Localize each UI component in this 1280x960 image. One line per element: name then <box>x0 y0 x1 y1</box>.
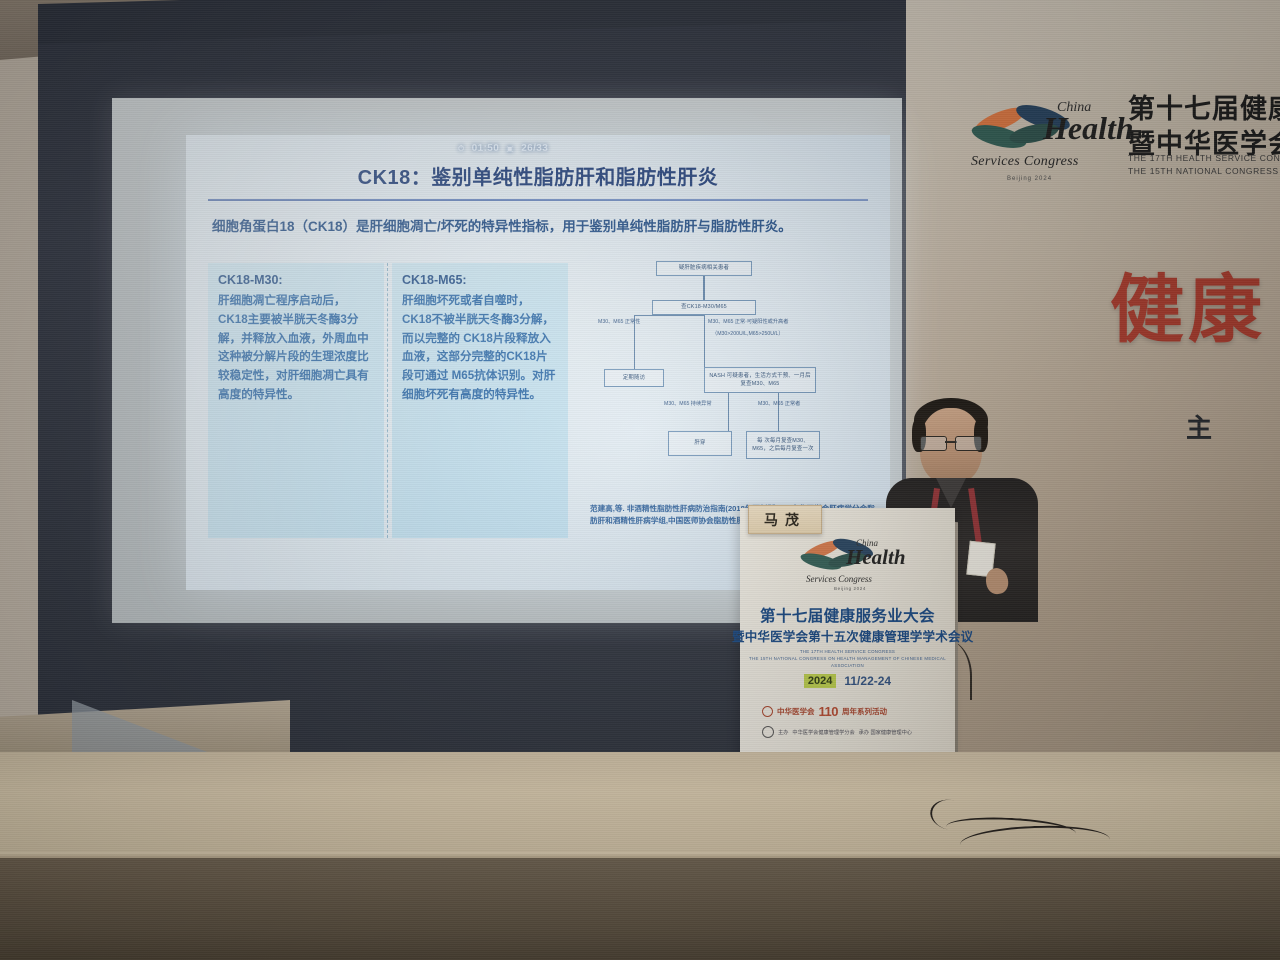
backdrop-en-line-2: THE 15TH NATIONAL CONGRESS ON HEA <box>1128 165 1280 178</box>
flow-edge-label-4: M30、M65 持续异常 <box>664 401 712 409</box>
backdrop-large-red-text: 健康 <box>1110 250 1266 357</box>
flow-node-6: 每 次每月复查M30、M65，之后每月复查一次 <box>746 431 820 459</box>
slide-counter: 26/33 <box>521 143 548 154</box>
backdrop-english-title: THE 17TH HEALTH SERVICE CONGRESS THE 15T… <box>1128 152 1280 178</box>
logo-city-year: Beijing 2024 <box>1007 176 1052 182</box>
flow-node-3: 定期随访 <box>604 369 664 387</box>
flow-edge <box>703 276 705 300</box>
logo-services-congress-text: Services Congress <box>971 154 1079 170</box>
column-body: 肝细胞凋亡程序启动后，CK18主要被半胱天冬酶3分解，并释放入血液，外周血中这种… <box>218 292 375 405</box>
backdrop-host-label: 主 <box>1186 408 1212 445</box>
column-ck18-m65: CK18-M65: 肝细胞坏死或者自噬时，CK18不被半胱天冬酶3分解，而以完整… <box>392 263 568 538</box>
timer-elapsed: 01:50 <box>472 143 500 154</box>
podium-year: 2024 <box>804 674 836 688</box>
flow-edge <box>778 393 779 431</box>
flow-edge-label-1: M30、M65 正常性 <box>598 319 640 327</box>
flow-edge-label-2: M30、M65 正常·可疑阳性或升高者 <box>708 319 788 327</box>
anniversary-seal-icon <box>762 706 773 717</box>
column-body: 肝细胞坏死或者自噬时，CK18不被半胱天冬酶3分解，而以完整的 CK18片段释放… <box>402 292 559 405</box>
anniversary-org: 中华医学会 <box>777 706 815 717</box>
column-dashed-divider <box>387 263 388 538</box>
organizer-label: 主办 <box>778 729 788 736</box>
foreground-floor <box>0 858 1280 960</box>
flow-node-1: 疑肝脏疾病相关患者 <box>656 261 752 276</box>
organizer-name: 中华医学会健康管理学分会 <box>792 729 854 736</box>
presentation-timer: ⏱ 01:50 ▣ 26/33 <box>458 143 548 154</box>
podium-anniversary-line: 中华医学会 110 周年系列活动 <box>762 704 887 719</box>
glasses-lens <box>920 436 947 451</box>
podium-date-block: 2024 11/22-24 <box>740 674 955 688</box>
podium-title-line-1: 第十七届健康服务业大会 <box>740 604 955 626</box>
podium-logo-services: Services Congress <box>806 574 872 584</box>
podium-title-line-2: 暨中华医学会第十五次健康管理学学术会议 <box>732 626 955 645</box>
speaker-glasses <box>920 436 982 449</box>
podium-butterfly-logo-icon: China Health Services Congress Beijing 2… <box>800 530 896 592</box>
podium-dates: 11/22-24 <box>844 674 891 688</box>
organizer-seal-icon <box>762 726 774 738</box>
clock-icon: ⏱ <box>458 144 465 154</box>
flow-node-5: 肝穿 <box>668 431 732 456</box>
podium-logo-health: Health <box>846 545 906 570</box>
conference-photo: CK18：鉴别单纯性脂肪肝和脂肪性肝炎 细胞角蛋白18（CK18）是肝细胞凋亡/… <box>0 0 1280 960</box>
column-ck18-m30: CK18-M30: 肝细胞凋亡程序启动后，CK18主要被半胱天冬酶3分解，并释放… <box>208 263 384 538</box>
slide-counter-icon: ▣ <box>506 144 514 153</box>
slide-lead-text: 细胞角蛋白18（CK18）是肝细胞凋亡/坏死的特异性指标，用于鉴别单纯性脂肪肝与… <box>212 217 868 237</box>
backdrop-chinese-title: 第十七届健康服 暨中华医学会第 <box>1128 92 1280 161</box>
podium-english-title: THE 17TH HEALTH SERVICE CONGRESS THE 15T… <box>740 648 955 669</box>
podium-en-line-1: THE 17TH HEALTH SERVICE CONGRESS <box>740 648 955 655</box>
glasses-lens <box>955 436 982 451</box>
slide-title: CK18：鉴别单纯性脂肪肝和脂肪性肝炎 <box>186 161 890 190</box>
podium-en-line-2: THE 15TH NATIONAL CONGRESS ON HEALTH MAN… <box>740 655 955 669</box>
podium-organizer-line: 主办 中华医学会健康管理学分会 承办 国家健康管理中心 <box>762 726 912 738</box>
anniversary-number: 110 <box>819 704 838 719</box>
logo-health-text: Health <box>1043 110 1134 147</box>
backdrop-title-line-1: 第十七届健康服 <box>1128 92 1280 127</box>
flow-edge-label-5: M30、M65 正常者 <box>758 401 800 409</box>
backdrop-en-line-1: THE 17TH HEALTH SERVICE CONGRESS <box>1128 152 1280 165</box>
slide-flowchart: 疑肝脏疾病相关患者 查CK18-M30/M65 M30、M65 正常性 定期随访… <box>590 261 870 497</box>
flow-edge <box>728 393 729 431</box>
flow-edge <box>704 315 705 367</box>
column-heading: CK18-M30: <box>218 273 375 287</box>
organizer-co: 承办 国家健康管理中心 <box>859 729 912 736</box>
podium-logo-city-year: Beijing 2024 <box>834 586 866 591</box>
column-heading: CK18-M65: <box>402 273 559 287</box>
flow-node-2: 查CK18-M30/M65 <box>652 300 756 315</box>
title-divider <box>208 199 868 201</box>
flow-node-4: NASH 可疑患者，生活方式干预、一月后复查M30、M65 <box>704 367 816 393</box>
slide-columns: CK18-M30: 肝细胞凋亡程序启动后，CK18主要被半胱天冬酶3分解，并释放… <box>208 263 578 538</box>
speaker-nameplate: 马茂 <box>748 505 822 534</box>
anniversary-suffix: 周年系列活动 <box>842 706 887 717</box>
flow-edge-label-3: （M30>200U/L,M65>250U/L） <box>712 331 784 339</box>
flow-edge <box>634 315 704 316</box>
